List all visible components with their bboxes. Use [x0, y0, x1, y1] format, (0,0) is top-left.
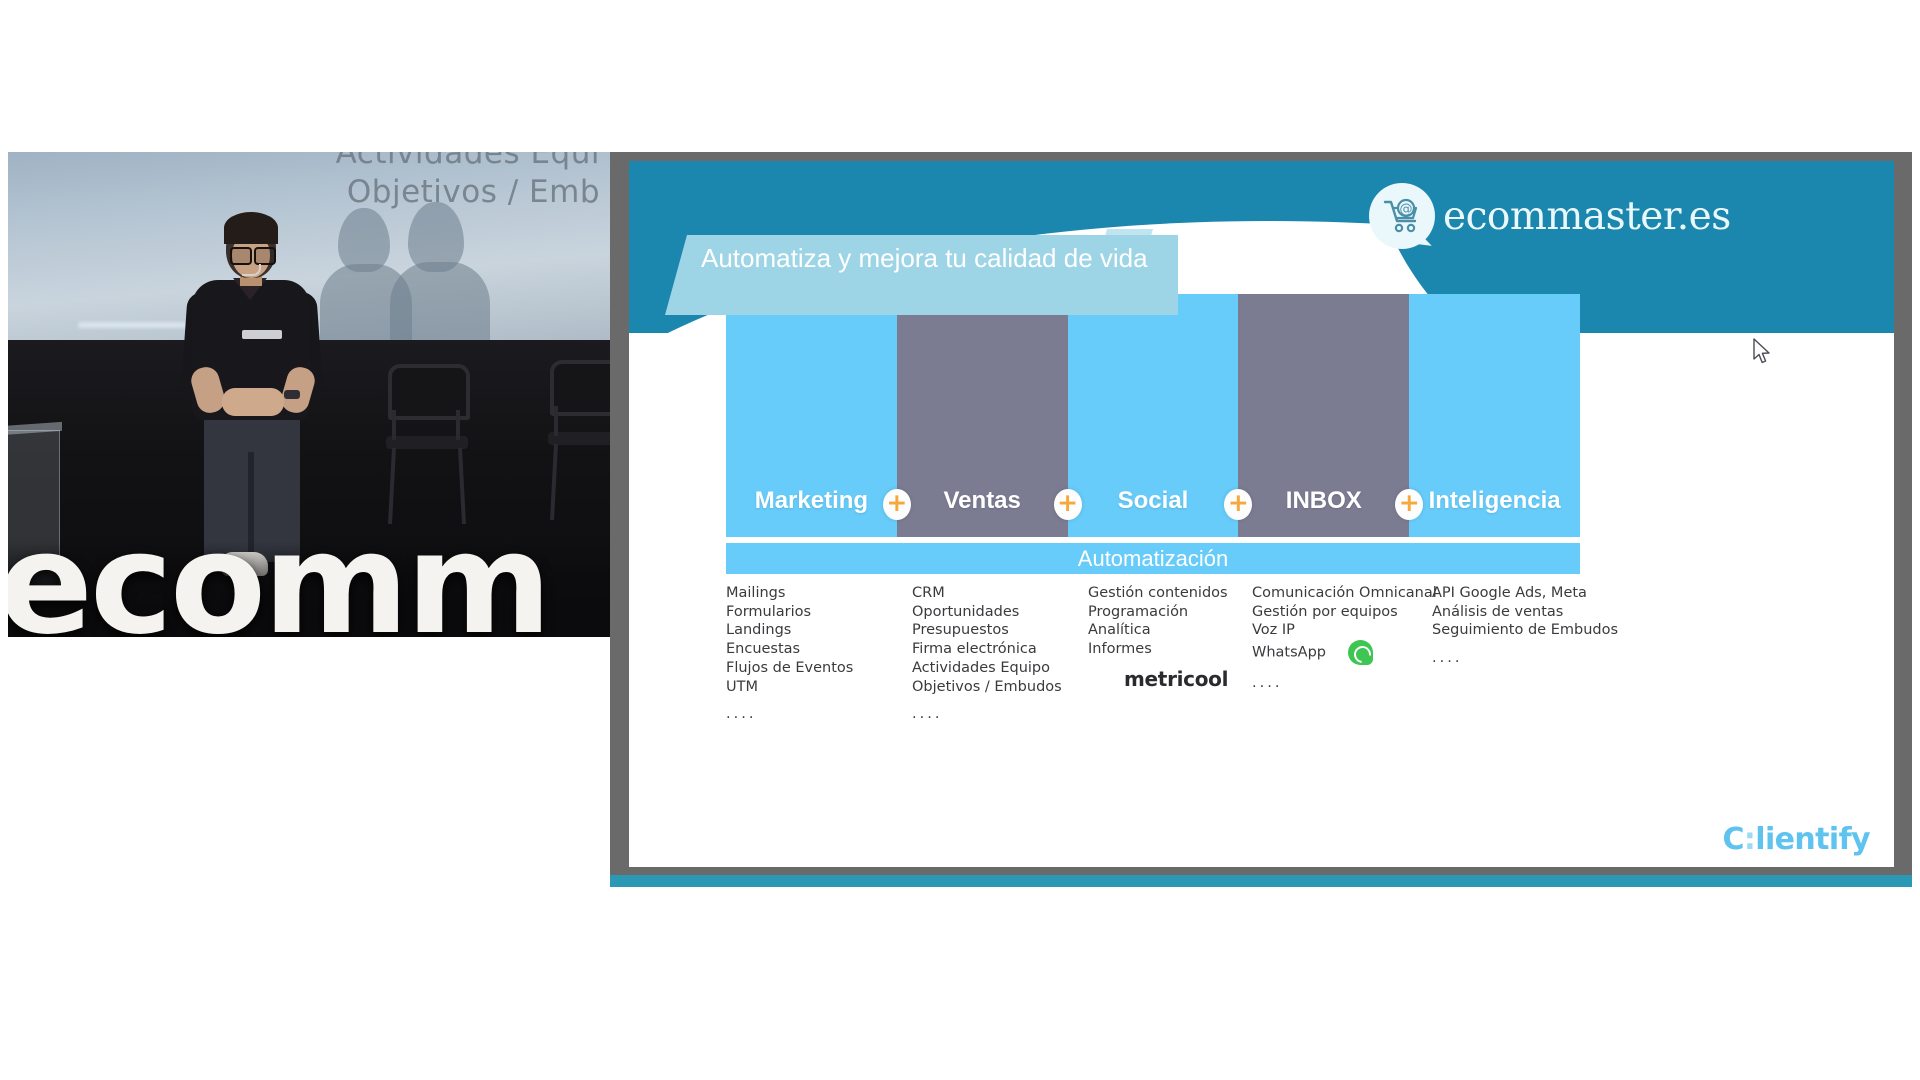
pillar-label: Inteligencia: [1429, 487, 1561, 515]
pillar-inbox[interactable]: INBOX: [1238, 294, 1409, 537]
whatsapp-icon: [1348, 640, 1373, 665]
list-more-ellipsis: ....: [726, 696, 912, 724]
stage-3d-letters: ecomm: [8, 528, 549, 637]
list-item: Flujos de Eventos: [726, 659, 912, 678]
plus-badge-icon: +: [1224, 489, 1252, 520]
projection-text-line1: Actividades Equi: [336, 152, 600, 173]
list-item: Comunicación Omnicanal: [1252, 584, 1432, 603]
list-more-ellipsis: ....: [912, 696, 1088, 724]
list-item: Objetivos / Embudos: [912, 678, 1088, 697]
list-item: CRM: [912, 584, 1088, 603]
feature-columns: MailingsFormulariosLandingsEncuestasFluj…: [726, 584, 1866, 724]
feature-column-5: API Google Ads, MetaAnálisis de ventasSe…: [1432, 584, 1622, 724]
list-item: Informes: [1088, 640, 1252, 659]
metricool-logo: metricool: [1124, 667, 1252, 691]
feature-column-2: CRMOportunidadesPresupuestosFirma electr…: [912, 584, 1088, 724]
pillar-inteligencia[interactable]: Inteligencia: [1409, 294, 1580, 537]
clientify-logo-suffix: lientify: [1755, 822, 1870, 857]
list-item: Seguimiento de Embudos: [1432, 621, 1622, 640]
list-item: Voz IP: [1252, 621, 1432, 640]
plus-badge-icon: +: [1395, 489, 1423, 520]
clientify-logo: C:lientify: [1722, 822, 1870, 857]
pillar-label: Ventas: [944, 487, 1021, 515]
list-item: Gestión contenidos: [1088, 584, 1252, 603]
automation-bar: Automatización: [726, 543, 1580, 574]
list-item: WhatsApp: [1252, 640, 1432, 665]
projection-text-line2: Objetivos / Emb: [336, 173, 600, 212]
speaker-wristwatch: [284, 390, 300, 399]
list-item: Gestión por equipos: [1252, 603, 1432, 622]
speaker-video-tile[interactable]: Actividades Equi Objetivos / Emb: [8, 152, 610, 637]
shared-slide-frame: @ ecommaster.es Automatiza y mejora tu c…: [610, 152, 1912, 887]
plus-badge-icon: +: [1054, 489, 1082, 520]
list-item: Analítica: [1088, 621, 1252, 640]
brand-name-text: ecommaster.es: [1443, 194, 1731, 239]
list-item: Análisis de ventas: [1432, 603, 1622, 622]
speaker-shirt-logo: [242, 330, 282, 339]
feature-column-3: Gestión contenidosProgramaciónAnalíticaI…: [1088, 584, 1252, 724]
list-item: Mailings: [726, 584, 912, 603]
list-item: Landings: [726, 621, 912, 640]
pillar-social[interactable]: Social: [1068, 294, 1239, 537]
list-item: Firma electrónica: [912, 640, 1088, 659]
list-item: API Google Ads, Meta: [1432, 584, 1622, 603]
pillar-label: Marketing: [755, 487, 868, 515]
clientify-logo-colon: :: [1744, 822, 1755, 857]
list-item: Formularios: [726, 603, 912, 622]
list-more-ellipsis: ....: [1252, 665, 1432, 693]
speaker-hair: [224, 212, 278, 244]
projection-screen-text: Actividades Equi Objetivos / Emb: [336, 152, 600, 212]
feature-column-1: MailingsFormulariosLandingsEncuestasFluj…: [726, 584, 912, 724]
speaker-glasses-right-lens: [254, 247, 276, 265]
clientify-logo-prefix: C: [1722, 822, 1743, 857]
pillar-ventas[interactable]: Ventas: [897, 294, 1068, 537]
pillar-row: MarketingVentasSocialINBOXInteligencia: [726, 294, 1580, 537]
list-item: UTM: [726, 678, 912, 697]
shopping-cart-at-icon: @: [1369, 183, 1435, 249]
feature-column-4: Comunicación OmnicanalGestión por equipo…: [1252, 584, 1432, 724]
page-title: Automatiza y mejora tu calidad de vida: [665, 235, 1178, 315]
ecommaster-brand-lockup: @ ecommaster.es: [1369, 183, 1731, 249]
audience-silhouette-1: [338, 208, 390, 272]
slide-frame-accent-strip: [610, 875, 1912, 887]
list-item: Presupuestos: [912, 621, 1088, 640]
list-item: Oportunidades: [912, 603, 1088, 622]
speaker-glasses-left-lens: [230, 247, 252, 265]
pillar-marketing[interactable]: Marketing: [726, 294, 897, 537]
speaker-hands: [222, 388, 284, 416]
list-item: Actividades Equipo: [912, 659, 1088, 678]
presentation-slide[interactable]: @ ecommaster.es Automatiza y mejora tu c…: [629, 161, 1894, 867]
list-item: Encuestas: [726, 640, 912, 659]
slide-title-ribbon: Automatiza y mejora tu calidad de vida: [665, 235, 1178, 315]
svg-text:@: @: [1400, 202, 1413, 217]
pillar-label: INBOX: [1286, 487, 1362, 515]
list-more-ellipsis: ....: [1432, 640, 1622, 668]
plus-badge-icon: +: [883, 489, 911, 520]
pillar-label: Social: [1118, 487, 1189, 515]
list-item: Programación: [1088, 603, 1252, 622]
